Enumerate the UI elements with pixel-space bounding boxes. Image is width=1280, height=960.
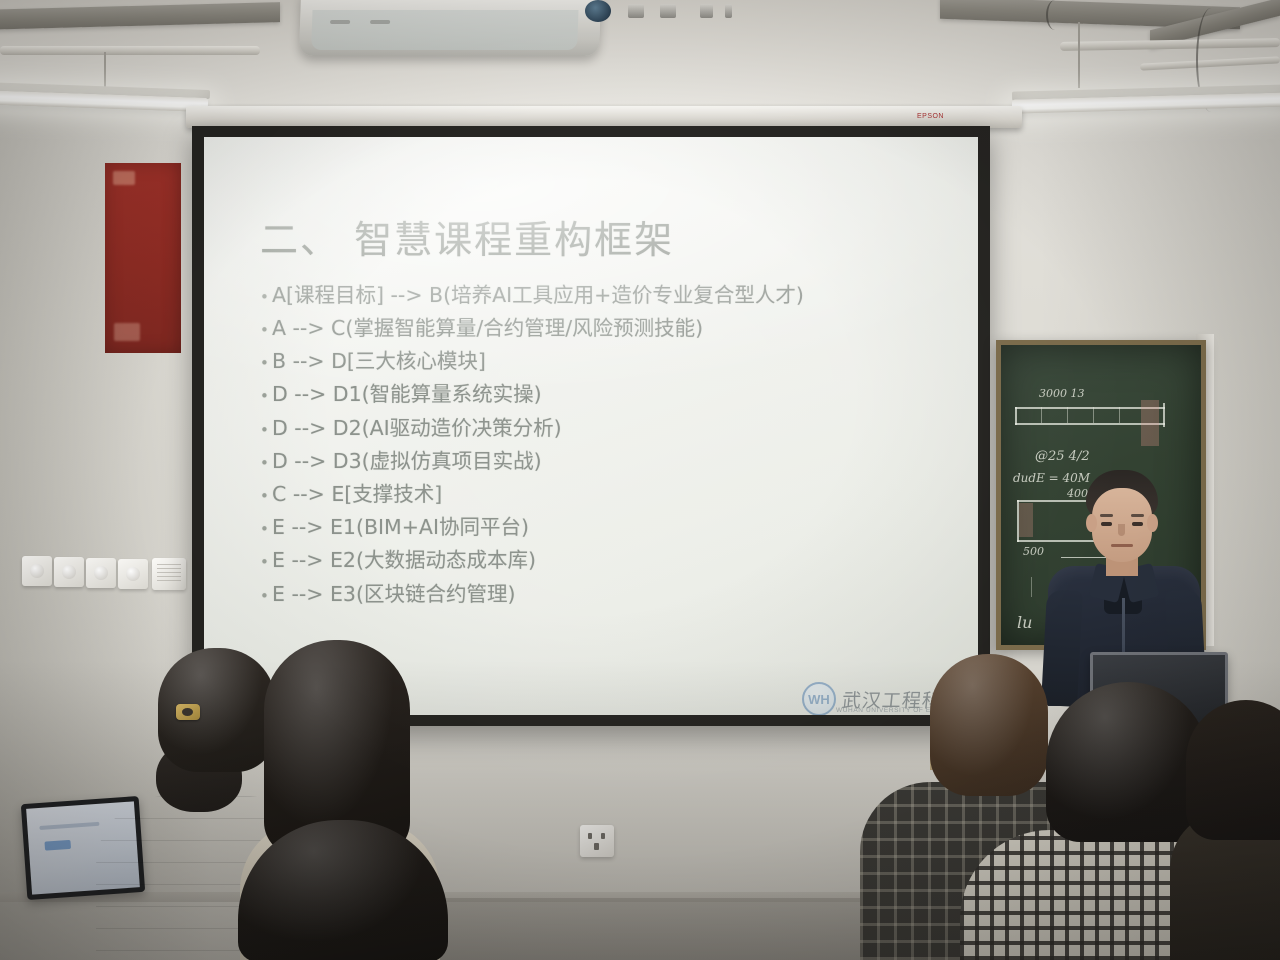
projection-screen-roller[interactable]: EPSON	[186, 106, 1022, 128]
presenter-eye-right	[1132, 522, 1143, 526]
slide-bullet-list: • A[课程目标] --> B(培养AI工具应用+造价专业复合型人才) • A …	[260, 279, 950, 611]
chalk-line	[1067, 407, 1068, 423]
slide-bullet: • A[课程目标] --> B(培养AI工具应用+造价专业复合型人才)	[260, 279, 950, 312]
projector-vent-2	[370, 20, 390, 24]
panel-grille-icon	[157, 564, 181, 584]
bullet-marker-icon: •	[260, 517, 272, 541]
bullet-text: E --> E3(区块链合约管理)	[272, 578, 515, 611]
light-switch-4[interactable]	[118, 559, 148, 589]
outlet-slot-ground	[594, 843, 599, 850]
banner-mark-bottom	[114, 323, 140, 341]
switch-knob-icon	[30, 564, 44, 578]
power-outlet[interactable]	[580, 825, 614, 857]
outlet-slot-r	[601, 833, 605, 839]
bullet-marker-icon: •	[260, 584, 272, 608]
hair-highlight	[238, 820, 448, 960]
bullet-text: D --> D3(虚拟仿真项目实战)	[272, 445, 542, 478]
projection-screen-surface: 二、 智慧课程重构框架 • A[课程目标] --> B(培养AI工具应用+造价专…	[204, 137, 978, 715]
slide-bullet: • D --> D3(虚拟仿真项目实战)	[260, 445, 950, 478]
roller-brand-label: EPSON	[917, 113, 944, 120]
slide-bullet: • C --> E[支撑技术]	[260, 478, 950, 511]
bullet-text: A[课程目标] --> B(培养AI工具应用+造价专业复合型人才)	[272, 279, 804, 312]
bullet-text: A --> C(掌握智能算量/合约管理/风险预测技能)	[272, 312, 703, 345]
projector-port-2	[660, 4, 676, 18]
hair-clip-hole	[182, 708, 193, 716]
chalk-line	[1041, 407, 1042, 423]
presenter-eye-left	[1101, 522, 1112, 526]
bullet-marker-icon: •	[260, 484, 272, 508]
chalk-line	[1119, 407, 1120, 423]
hanging-wire-2	[1046, 0, 1064, 30]
presenter-nose	[1118, 524, 1125, 536]
bullet-text: D --> D1(智能算量系统实操)	[272, 378, 542, 411]
bullet-marker-icon: •	[260, 384, 272, 408]
outlet-slot-l	[588, 833, 592, 839]
presenter-brow-right	[1131, 514, 1144, 517]
chalk-line	[1163, 403, 1165, 427]
ceiling-pipe-left	[0, 46, 260, 55]
slide-bullet: • A --> C(掌握智能算量/合约管理/风险预测技能)	[260, 312, 950, 345]
slide-bullet: • E --> E2(大数据动态成本库)	[260, 544, 950, 577]
hair-clip	[176, 704, 200, 720]
slide-bullet: • D --> D1(智能算量系统实操)	[260, 378, 950, 411]
bullet-text: B --> D[三大核心模块]	[272, 345, 486, 378]
banner-mark-top	[113, 171, 135, 185]
chalk-line	[1031, 577, 1032, 597]
chalk-note: 3000 13	[1039, 387, 1085, 400]
projector-port-1	[628, 4, 644, 18]
switch-knob-icon	[94, 566, 108, 580]
bullet-marker-icon: •	[260, 351, 272, 375]
bullet-marker-icon: •	[260, 550, 272, 574]
chalk-red-block	[1019, 503, 1033, 537]
light-switch-1[interactable]	[22, 556, 52, 586]
hair-highlight	[930, 654, 1048, 796]
slide-bullet: • B --> D[三大核心模块]	[260, 345, 950, 378]
bullet-text: E --> E2(大数据动态成本库)	[272, 544, 536, 577]
slide-content: 二、 智慧课程重构框架 • A[课程目标] --> B(培养AI工具应用+造价专…	[260, 219, 950, 611]
audience-member-right-edge-dark	[1180, 700, 1280, 960]
audience-head	[238, 820, 448, 960]
bullet-text: E --> E1(BIM+AI协同平台)	[272, 511, 529, 544]
slide-bullet: • D --> D2(AI驱动造价决策分析)	[260, 412, 950, 445]
projector-port-3	[700, 4, 713, 18]
light-switch-3[interactable]	[86, 558, 116, 588]
laptop-ui-button	[44, 840, 71, 851]
lamp-hanger-right	[1078, 22, 1080, 88]
chalk-line	[1015, 407, 1017, 425]
laptop-ui-bar	[39, 822, 99, 830]
bullet-marker-icon: •	[260, 285, 272, 309]
presenter-ear-left	[1086, 514, 1097, 532]
chalk-note: lu	[1017, 613, 1032, 632]
presenter-mouth	[1111, 544, 1133, 547]
university-seal-icon: WH	[802, 682, 836, 715]
light-switch-2[interactable]	[54, 557, 84, 587]
switch-knob-icon	[62, 565, 76, 579]
chalk-line	[1093, 407, 1094, 423]
ceiling-projector	[299, 0, 601, 56]
chalk-note: @25 4/2	[1035, 449, 1090, 464]
bullet-marker-icon: •	[260, 418, 272, 442]
chalk-red-block	[1141, 400, 1159, 446]
bullet-marker-icon: •	[260, 318, 272, 342]
wall-control-panel[interactable]	[152, 558, 186, 590]
presenter-brow-left	[1100, 514, 1113, 517]
red-wall-banner	[105, 163, 181, 353]
bullet-text: D --> D2(AI驱动造价决策分析)	[272, 412, 562, 445]
classroom-photo: EPSON 二、 智慧课程重构框架 • A[课程目标] --> B(培养AI工具…	[0, 0, 1280, 960]
slide-title: 二、 智慧课程重构框架	[260, 219, 950, 263]
switch-knob-icon	[126, 567, 140, 581]
projection-screen-frame: 二、 智慧课程重构框架 • A[课程目标] --> B(培养AI工具应用+造价专…	[192, 126, 990, 726]
projector-body	[311, 10, 578, 50]
projector-lens-icon	[585, 0, 611, 22]
bullet-marker-icon: •	[260, 451, 272, 475]
slide-bullet: • E --> E3(区块链合约管理)	[260, 578, 950, 611]
slide-bullet: • E --> E1(BIM+AI协同平台)	[260, 511, 950, 544]
bullet-text: C --> E[支撑技术]	[272, 478, 442, 511]
projector-vent	[330, 20, 350, 24]
audience-head	[1186, 700, 1280, 840]
audience-member-bottom-center	[208, 820, 488, 960]
presenter-ear-right	[1147, 514, 1158, 532]
projector-port-4	[725, 4, 732, 18]
audience-head	[930, 654, 1048, 796]
